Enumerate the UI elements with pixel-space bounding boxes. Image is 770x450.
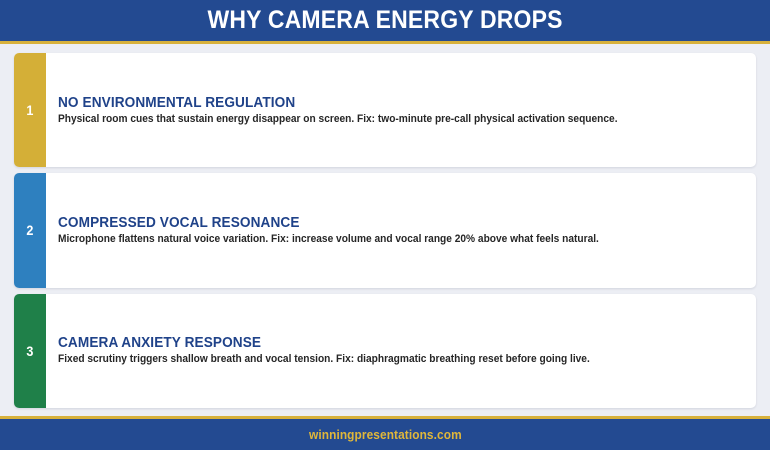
card-heading: CAMERA ANXIETY RESPONSE — [58, 335, 699, 351]
slide: WHY CAMERA ENERGY DROPS 1 NO ENVIRONMENT… — [0, 0, 770, 450]
footer-website-label: winningpresentations.com — [309, 428, 462, 442]
card-body: NO ENVIRONMENTAL REGULATION Physical roo… — [46, 53, 756, 167]
card-number-tab: 1 — [14, 53, 46, 167]
card-number-label: 1 — [26, 103, 33, 117]
card-heading: COMPRESSED VOCAL RESONANCE — [58, 215, 699, 231]
card-description: Microphone flattens natural voice variat… — [58, 233, 713, 246]
card-body: CAMERA ANXIETY RESPONSE Fixed scrutiny t… — [46, 294, 756, 408]
list-item[interactable]: 3 CAMERA ANXIETY RESPONSE Fixed scrutiny… — [14, 294, 756, 408]
slide-footer: winningpresentations.com — [0, 416, 770, 450]
card-number-label: 3 — [26, 344, 33, 358]
list-item[interactable]: 2 COMPRESSED VOCAL RESONANCE Microphone … — [14, 173, 756, 287]
card-description: Fixed scrutiny triggers shallow breath a… — [58, 353, 713, 366]
list-item[interactable]: 1 NO ENVIRONMENTAL REGULATION Physical r… — [14, 53, 756, 167]
card-description: Physical room cues that sustain energy d… — [58, 113, 713, 126]
page-title: WHY CAMERA ENERGY DROPS — [207, 6, 562, 35]
card-list: 1 NO ENVIRONMENTAL REGULATION Physical r… — [0, 44, 770, 416]
card-body: COMPRESSED VOCAL RESONANCE Microphone fl… — [46, 173, 756, 287]
card-number-label: 2 — [26, 223, 33, 237]
slide-header: WHY CAMERA ENERGY DROPS — [0, 0, 770, 44]
card-heading: NO ENVIRONMENTAL REGULATION — [58, 95, 699, 111]
card-number-tab: 3 — [14, 294, 46, 408]
card-number-tab: 2 — [14, 173, 46, 287]
